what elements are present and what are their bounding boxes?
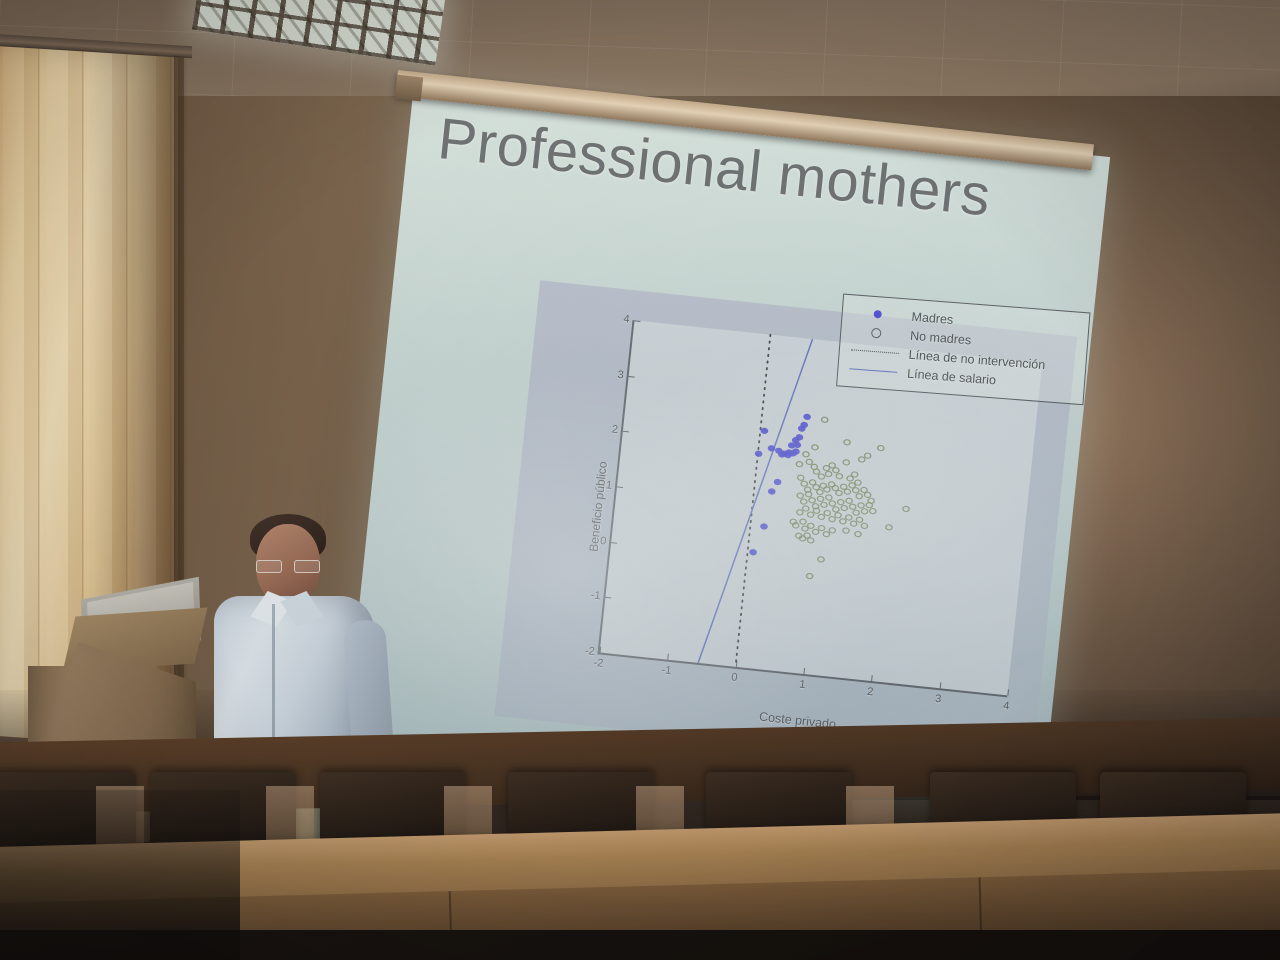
glasses-icon <box>256 560 322 571</box>
projection-screen: Professional mothers Beneficio público C… <box>346 84 1110 804</box>
lecture-room: Professional mothers Beneficio público C… <box>0 0 1280 960</box>
projection-haze <box>346 84 1110 804</box>
foreground-shadow <box>0 790 240 960</box>
screen-roller-cap <box>395 75 423 102</box>
screenshot-root: Professional mothers Beneficio público C… <box>0 0 1280 960</box>
